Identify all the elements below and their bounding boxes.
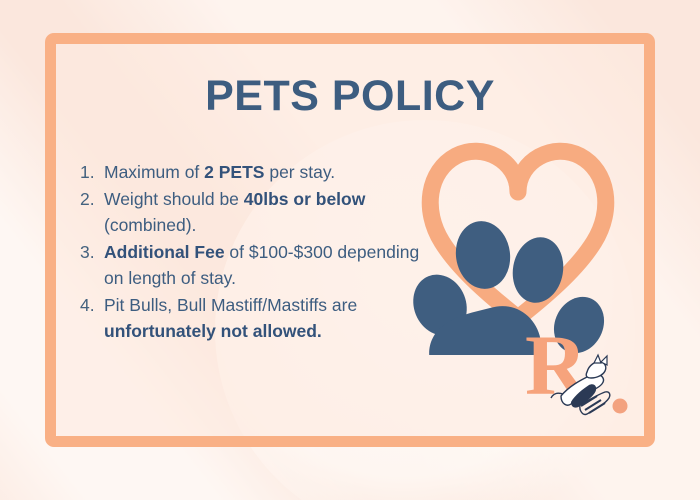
policy-text-segment: Weight should be xyxy=(104,189,244,209)
policy-list-item: 2.Weight should be 40lbs or below (combi… xyxy=(80,186,430,238)
policy-text-segment: Pit Bulls, Bull Mastiff/Mastiffs are xyxy=(104,295,357,315)
pets-policy-poster: PETS POLICY R xyxy=(0,0,700,500)
policy-list: 1.Maximum of 2 PETS per stay.2.Weight sh… xyxy=(80,159,430,345)
policy-text-emphasis: 40lbs or below xyxy=(244,189,366,209)
policy-item-number: 2. xyxy=(80,186,104,212)
policy-item-number: 3. xyxy=(80,239,104,265)
policy-item-text: Additional Fee of $100-$300 depending on… xyxy=(104,239,430,291)
policy-list-item: 1.Maximum of 2 PETS per stay. xyxy=(80,159,430,185)
policy-item-number: 1. xyxy=(80,159,104,185)
policy-text-segment: per stay. xyxy=(264,162,335,182)
policy-item-text: Weight should be 40lbs or below (combine… xyxy=(104,186,430,238)
policy-text-emphasis: Additional Fee xyxy=(104,242,225,262)
policy-text-segment: Maximum of xyxy=(104,162,204,182)
policy-text-emphasis: unfortunately not allowed. xyxy=(104,321,322,341)
policy-item-number: 4. xyxy=(80,292,104,318)
policy-text-emphasis: 2 PETS xyxy=(204,162,264,182)
policy-item-text: Pit Bulls, Bull Mastiff/Mastiffs are unf… xyxy=(104,292,430,344)
policy-text-segment: (combined). xyxy=(104,215,196,235)
policy-list-item: 4.Pit Bulls, Bull Mastiff/Mastiffs are u… xyxy=(80,292,430,344)
policy-item-text: Maximum of 2 PETS per stay. xyxy=(104,159,430,185)
page-title: PETS POLICY xyxy=(0,72,700,121)
policy-list-item: 3.Additional Fee of $100-$300 depending … xyxy=(80,239,430,291)
